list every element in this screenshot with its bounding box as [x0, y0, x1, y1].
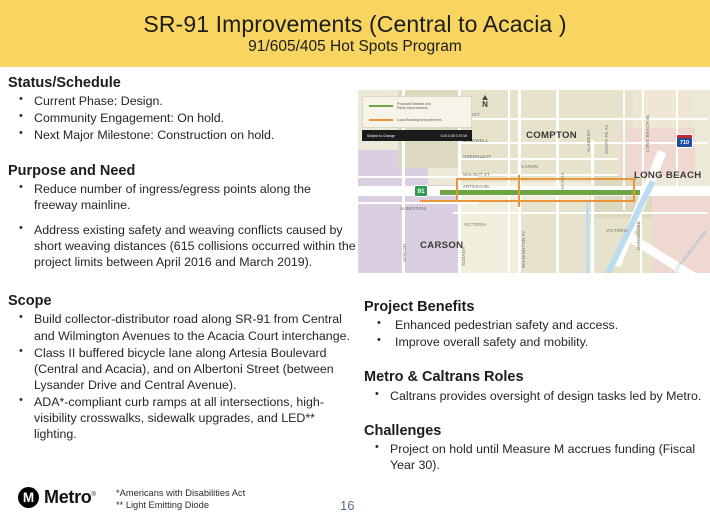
map-street-label: WALNUT ST	[463, 172, 490, 177]
legend-row-mainline: Proposed Mainline and Ramp Improvements	[369, 102, 431, 110]
list-item: Class II buffered bicycle lane along Art…	[8, 345, 356, 393]
north-arrow-label: N	[478, 101, 492, 109]
scope-bullet-list: Build collector-distributor road along S…	[8, 311, 356, 442]
metro-registered-mark: ®	[92, 492, 96, 498]
list-item: Build collector-distributor road along S…	[8, 311, 356, 343]
spacer	[8, 145, 356, 162]
map-street-label: GREENLEAF	[463, 154, 491, 159]
metro-wordmark-text: Metro	[44, 487, 92, 507]
map-corridor-local	[633, 178, 635, 202]
map-corridor-local	[518, 175, 520, 207]
map-street-label: ALBERTONI	[400, 206, 427, 211]
legend-label-mainline: Proposed Mainline and Ramp Improvements	[397, 102, 431, 110]
map-street-label: ALAMEDA	[586, 130, 591, 152]
map-road	[458, 142, 708, 144]
section-heading-status: Status/Schedule	[8, 74, 356, 92]
metro-logo: M Metro®	[18, 487, 96, 508]
section-heading-roles: Metro & Caltrans Roles	[364, 368, 704, 386]
benefits-bullet-list: Enhanced pedestrian safety and access. I…	[364, 317, 704, 350]
map-street-label: VICTORIA	[606, 228, 628, 233]
map-street-label: AVALON	[402, 244, 407, 262]
map-street-label: DOMINGUEZ	[636, 221, 641, 250]
map-street-label: ARTESIA BL	[463, 184, 490, 189]
list-item: Current Phase: Design.	[8, 93, 356, 109]
map-road	[453, 212, 708, 214]
list-item: Improve overall safety and mobility.	[364, 334, 704, 350]
map-corridor-mainline	[440, 190, 640, 195]
metro-wordmark: Metro®	[44, 487, 96, 508]
map-scalebar: Subject to Change 0.25 0.50 0.75 MI	[362, 130, 472, 141]
map-road	[458, 118, 708, 120]
section-heading-scope: Scope	[8, 292, 356, 310]
map-city-label: CARSON	[420, 240, 463, 251]
map-corridor-local	[456, 178, 458, 202]
page-title: SR-91 Improvements (Central to Acacia )	[143, 12, 566, 36]
footnote-led: ** Light Emitting Diode	[116, 499, 245, 511]
challenges-bullet-list: Project on hold until Measure M accrues …	[364, 441, 704, 473]
legend-row-local: Local Roadway Improvements	[369, 118, 441, 122]
list-item: Community Engagement: On hold.	[8, 110, 356, 126]
slide: SR-91 Improvements (Central to Acacia ) …	[0, 0, 710, 519]
map-city-label: LONG BEACH	[634, 170, 702, 181]
list-item: Next Major Milestone: Construction on ho…	[8, 127, 356, 143]
map-canvas: 91 710 COMPTON LONG BEACH CARSON 141ST C…	[358, 90, 710, 273]
map-street-label: SUSANA	[461, 247, 466, 266]
spacer	[8, 279, 356, 292]
map-street-label: VICTORIA	[464, 222, 486, 227]
page-number: 16	[340, 498, 354, 513]
section-heading-challenges: Challenges	[364, 422, 704, 440]
purpose-bullet-list: Reduce number of ingress/egress points a…	[8, 181, 356, 271]
spacer	[364, 405, 704, 422]
list-item: ADA*-compliant curb ramps at all interse…	[8, 394, 356, 442]
page-subtitle: 91/605/405 Hot Spots Program	[248, 39, 462, 55]
map-street-label: ACACIA	[560, 172, 565, 190]
map-street-label: CARON	[521, 164, 538, 169]
shield-number: 710	[677, 138, 692, 147]
spacer	[364, 351, 704, 368]
list-item: Caltrans provides oversight of design ta…	[364, 388, 704, 404]
section-heading-purpose: Purpose and Need	[8, 162, 356, 180]
scalebar-left-label: Subject to Change	[367, 134, 395, 138]
route-shield-91-icon: 91	[414, 185, 428, 197]
footnotes: *Americans with Disabilities Act ** Ligh…	[116, 487, 245, 512]
map-street-label: WILMINGTON AV	[521, 230, 526, 268]
status-bullet-list: Current Phase: Design. Community Engagem…	[8, 93, 356, 143]
map-street-label: LONG BEACH BL	[645, 114, 650, 152]
map-legend: Proposed Mainline and Ramp Improvements …	[362, 96, 472, 128]
map-street-label: SANTA FE AV	[604, 124, 609, 154]
slide-header: SR-91 Improvements (Central to Acacia ) …	[0, 0, 710, 67]
map-corridor-local	[420, 200, 635, 202]
north-arrow-icon: N	[478, 95, 492, 109]
roles-bullet-list: Caltrans provides oversight of design ta…	[364, 388, 704, 404]
list-item: Project on hold until Measure M accrues …	[364, 441, 704, 473]
project-map: 91 710 COMPTON LONG BEACH CARSON 141ST C…	[358, 90, 710, 273]
legend-swatch-green-icon	[369, 105, 393, 108]
list-item: Address existing safety and weaving conf…	[8, 222, 356, 270]
footnote-ada: *Americans with Disabilities Act	[116, 487, 245, 499]
left-column: Status/Schedule Current Phase: Design. C…	[8, 74, 356, 443]
map-city-label: COMPTON	[526, 130, 577, 141]
list-item: Enhanced pedestrian safety and access.	[364, 317, 704, 333]
legend-swatch-orange-icon	[369, 119, 393, 122]
right-column: Project Benefits Enhanced pedestrian saf…	[364, 298, 704, 474]
scalebar-right-label: 0.25 0.50 0.75 MI	[441, 134, 467, 138]
map-corridor-local	[456, 178, 636, 180]
route-shield-710-icon: 710	[676, 134, 693, 148]
section-heading-benefits: Project Benefits	[364, 298, 704, 316]
map-river	[586, 200, 589, 273]
legend-label-local: Local Roadway Improvements	[397, 118, 441, 122]
list-item: Reduce number of ingress/egress points a…	[8, 181, 356, 213]
metro-circle-m-icon: M	[18, 487, 39, 508]
